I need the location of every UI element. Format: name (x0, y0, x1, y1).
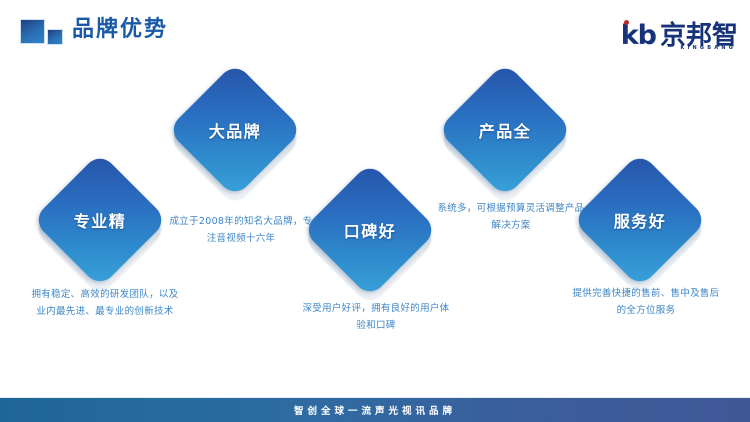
advantage-description: 提供完善快捷的售前、售中及售后的全方位服务 (571, 285, 721, 319)
brand-logo: kb 京邦智 KINGBANG (621, 14, 738, 50)
logo-name-en: KINGBANG (680, 45, 736, 51)
diamond-shape[interactable]: 专业精 (52, 172, 148, 268)
diamond-label: 产品全 (457, 82, 553, 178)
advantage-description: 成立于2008年的知名大品牌，专注音视频十六年 (166, 213, 316, 247)
diamond-label: 大品牌 (187, 82, 283, 178)
logo-dot-icon (624, 20, 629, 25)
diamond-shape[interactable]: 服务好 (592, 172, 688, 268)
square-icon-large (20, 19, 45, 44)
slide-canvas: 品牌优势 kb 京邦智 KINGBANG 专业精 拥有稳定、高效的研发团队，以及… (0, 0, 750, 422)
diamond-label: 口碑好 (322, 182, 418, 278)
diamond-label: 专业精 (52, 172, 148, 268)
advantage-description: 深受用户好评，拥有良好的用户体验和口碑 (301, 300, 451, 334)
diamond-label: 服务好 (592, 172, 688, 268)
slide-footer: 智创全球一流声光视讯品牌 (0, 398, 750, 422)
slide-header: 品牌优势 kb 京邦智 KINGBANG (0, 0, 750, 62)
advantage-description: 拥有稳定、高效的研发团队，以及业内最先进、最专业的创新技术 (30, 286, 180, 320)
diamond-shape[interactable]: 大品牌 (187, 82, 283, 178)
page-title: 品牌优势 (72, 15, 168, 45)
advantage-description: 系统多，可根据预算灵活调整产品解决方案 (436, 200, 586, 234)
diamond-shape[interactable]: 口碑好 (322, 182, 418, 278)
logo-mark-text: kb (621, 22, 656, 50)
square-icon-small (47, 29, 63, 45)
footer-slogan: 智创全球一流声光视讯品牌 (294, 403, 456, 417)
diamond-shape[interactable]: 产品全 (457, 82, 553, 178)
